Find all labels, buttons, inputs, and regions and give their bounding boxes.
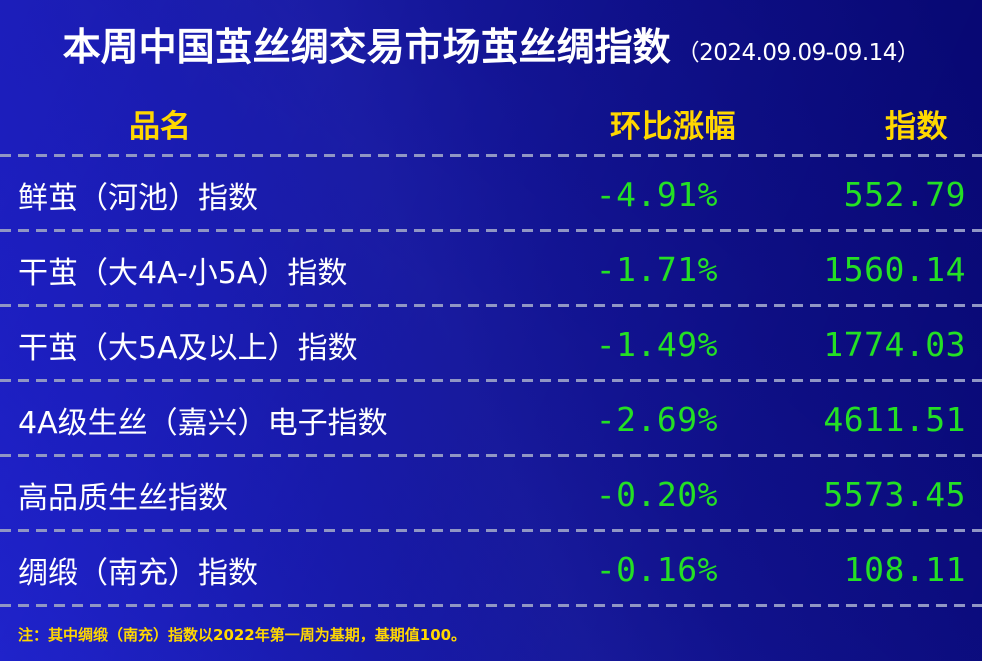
page-title: 本周中国茧丝绸交易市场茧丝绸指数 （2024.09.09-09.14） [0,28,982,80]
table-row: 干茧（大4A-小5A）指数 -1.71% 1560.14 [0,232,982,307]
index-report-screen: 本周中国茧丝绸交易市场茧丝绸指数 （2024.09.09-09.14） 品名 环… [0,0,982,661]
table-row: 高品质生丝指数 -0.20% 5573.45 [0,457,982,532]
table-row: 干茧（大5A及以上）指数 -1.49% 1774.03 [0,307,982,382]
table-row: 鲜茧（河池）指数 -4.91% 552.79 [0,157,982,232]
cell-index: 108.11 [0,532,966,607]
page-title-date-range: （2024.09.09-09.14） [677,42,920,65]
cell-index: 1560.14 [0,232,966,307]
cell-index: 4611.51 [0,382,966,457]
index-table: 品名 环比涨幅 指数 鲜茧（河池）指数 -4.91% 552.79 干茧（大4A… [0,90,982,607]
page-title-main: 本周中国茧丝绸交易市场茧丝绸指数 [63,28,671,66]
cell-index: 552.79 [0,157,966,232]
footnote-text: 注：其中绸缎（南充）指数以2022年第一周为基期，基期值100。 [18,624,466,645]
cell-index: 1774.03 [0,307,966,382]
cell-index: 5573.45 [0,457,966,532]
table-header-row: 品名 环比涨幅 指数 [0,90,982,157]
table-row: 4A级生丝（嘉兴）电子指数 -2.69% 4611.51 [0,382,982,457]
row-divider [0,604,982,607]
column-header-index: 指数 [0,90,948,157]
table-row: 绸缎（南充）指数 -0.16% 108.11 [0,532,982,607]
